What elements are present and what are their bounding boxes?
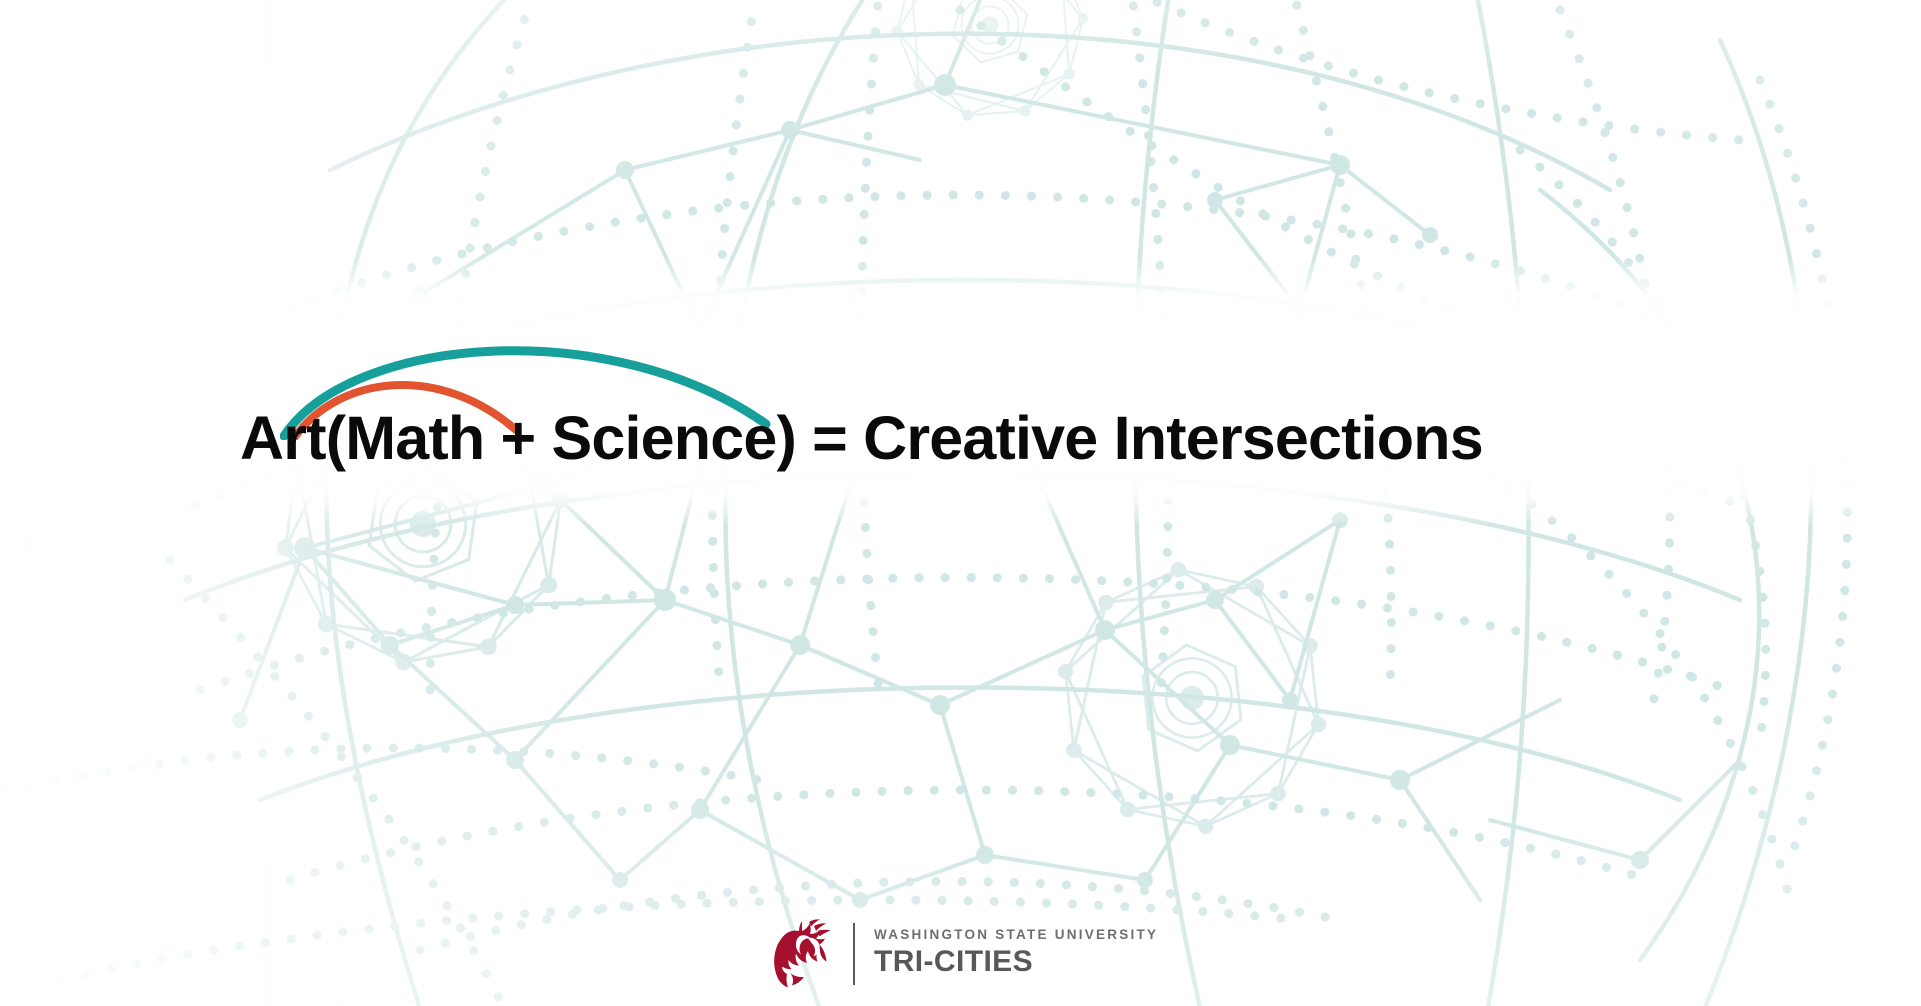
logo-campus-name: TRI-CITIES — [874, 945, 1158, 980]
logo-wordmark: WASHINGTON STATE UNIVERSITY TRI-CITIES — [874, 928, 1158, 979]
geodesic-network-pattern — [0, 0, 1921, 1006]
presentation-slide: Art(Math + Science) = Creative Intersect… — [0, 0, 1921, 1006]
logo-divider — [853, 923, 855, 985]
headline-backdrop — [0, 258, 1921, 526]
logo-university-name: WASHINGTON STATE UNIVERSITY — [874, 928, 1158, 943]
page-title: Art(Math + Science) = Creative Intersect… — [240, 408, 1680, 469]
wsu-cougar-head-icon — [770, 919, 836, 989]
wsu-tri-cities-logo: WASHINGTON STATE UNIVERSITY TRI-CITIES — [770, 916, 1158, 992]
